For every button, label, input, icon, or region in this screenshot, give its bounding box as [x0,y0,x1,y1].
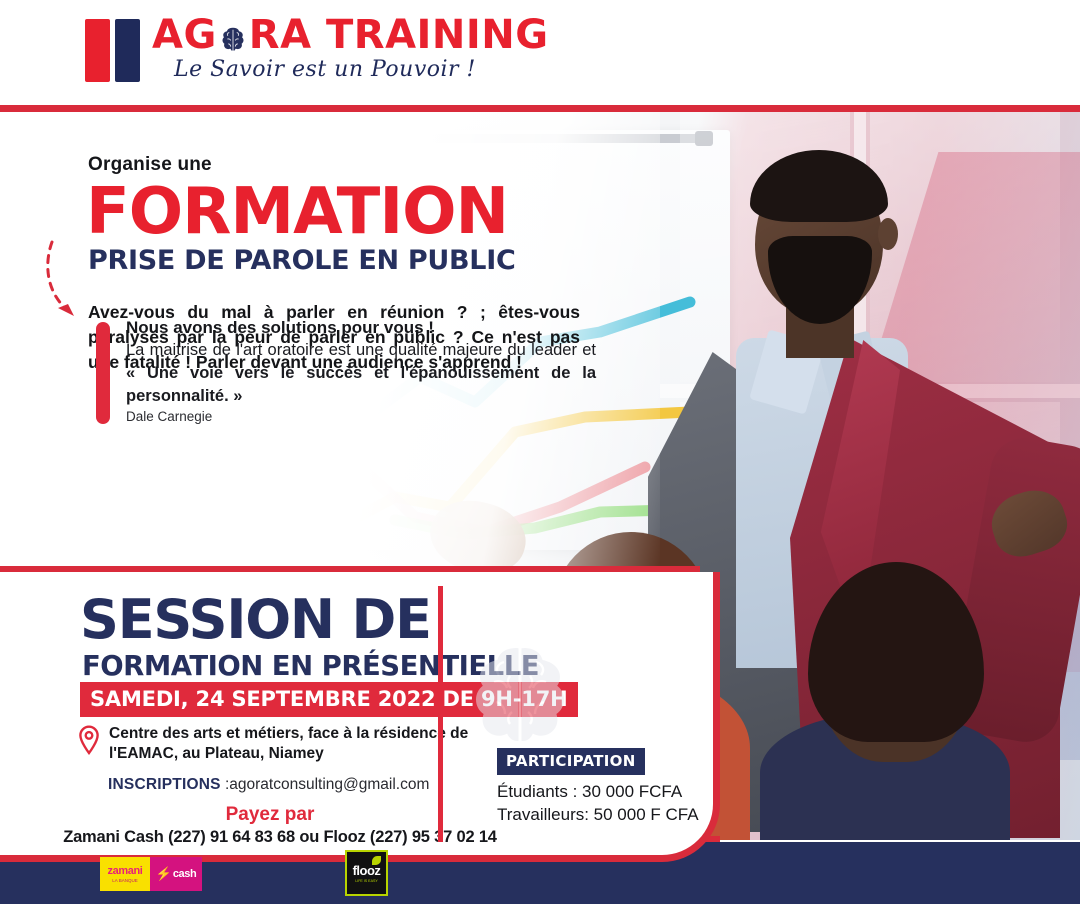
quote-text-quoted: « Une voie vers le succès et l'épanouiss… [126,364,596,405]
session-title: SESSION DE [80,594,431,647]
brain-watermark-icon [460,640,580,744]
flooz-logo-wrap: flooz LIFE IS EASY [345,850,388,896]
participation-badge: PARTICIPATION [497,748,645,775]
flooz-logo-label: flooz [353,864,381,877]
payment-numbers: Zamani Cash (227) 91 64 83 68 ou Flooz (… [0,828,600,847]
top-red-rule [0,105,1080,112]
participation-line-students: Étudiants : 30 000 FCFA [497,781,699,804]
venue-row: Centre des arts et métiers, face à la ré… [78,724,478,764]
quote-text: La maitrise de l'art oratoire est une qu… [126,339,596,407]
quote-author: Dale Carnegie [126,409,596,424]
dashed-curved-arrow-icon [44,238,92,328]
payment-logos: zamani LA BANQUE ⚡ cash [100,857,202,891]
quote-lead: Nous avons des solutions pour vous ! [126,318,596,338]
brand-tagline: Le Savoir est un Pouvoir ! [174,57,549,82]
organise-label: Organise une [88,154,212,176]
flag-mark-icon [85,19,140,82]
zamani-logo: zamani LA BANQUE [100,857,150,891]
inscriptions-row: INSCRIPTIONS :agoratconsulting@gmail.com [108,776,429,794]
brand-name-part2: RA TRAINING [249,15,549,55]
payez-label: Payez par [0,804,580,826]
inscriptions-label: INSCRIPTIONS [108,776,221,793]
participation-line-workers: Travailleurs: 50 000 F CFA [497,804,699,827]
quote-text-part1: La maitrise de l'art oratoire est une qu… [126,341,596,359]
poster-canvas: AG RA TRAINING [0,0,1080,904]
participation-block: PARTICIPATION Étudiants : 30 000 FCFA Tr… [497,748,699,827]
quote-block: Nous avons des solutions pour vous ! La … [96,318,596,424]
flooz-logo-sub: LIFE IS EASY [355,879,378,883]
zcash-logo-label: cash [173,868,196,880]
zamani-logo-sub: LA BANQUE [112,878,138,883]
brand-logo[interactable]: AG RA TRAINING [85,15,549,82]
brand-name-part1: AG [152,15,217,55]
header: AG RA TRAINING [0,0,1080,105]
zcash-logo: ⚡ cash [150,857,202,891]
flooz-logo: flooz LIFE IS EASY [345,850,388,896]
course-subtitle: PRISE DE PAROLE EN PUBLIC [88,245,515,276]
quote-accent-bar [96,322,110,424]
zamani-logo-label: zamani [108,865,143,877]
brain-icon [218,22,248,52]
inscriptions-email[interactable]: :agoratconsulting@gmail.com [221,776,430,793]
bolt-icon: ⚡ [156,866,172,882]
page-title: FORMATION [86,180,508,244]
brand-name: AG RA TRAINING [152,15,549,55]
vertical-red-separator [438,586,443,842]
location-pin-icon [78,725,100,755]
venue-address: Centre des arts et métiers, face à la ré… [109,724,478,764]
